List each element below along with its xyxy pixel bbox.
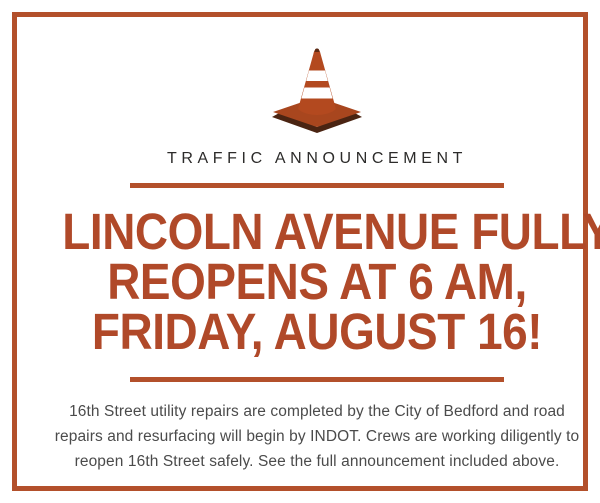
headline-line-2: REOPENS AT 6 AM, bbox=[62, 257, 571, 307]
traffic-cone-graphic bbox=[262, 43, 372, 139]
poster-border-frame: TRAFFIC ANNOUNCEMENT LINCOLN AVENUE FULL… bbox=[12, 12, 588, 491]
cone-stripe-upper bbox=[306, 71, 328, 82]
cone-tip bbox=[314, 49, 319, 52]
headline-line-3: FRIDAY, AUGUST 16! bbox=[62, 307, 571, 357]
traffic-announcement-poster: TRAFFIC ANNOUNCEMENT LINCOLN AVENUE FULL… bbox=[0, 0, 600, 503]
headline-line-1: LINCOLN AVENUE FULLY bbox=[62, 207, 571, 257]
poster-headline: LINCOLN AVENUE FULLY REOPENS AT 6 AM, FR… bbox=[62, 207, 571, 357]
poster-content: TRAFFIC ANNOUNCEMENT LINCOLN AVENUE FULL… bbox=[34, 34, 600, 503]
poster-body-text: 16th Street utility repairs are complete… bbox=[54, 399, 581, 474]
traffic-cone-icon bbox=[262, 43, 372, 139]
cone-body bbox=[298, 49, 336, 115]
cone-stripe-lower bbox=[301, 88, 332, 99]
poster-kicker: TRAFFIC ANNOUNCEMENT bbox=[167, 150, 467, 168]
divider-top bbox=[130, 183, 504, 188]
divider-bottom bbox=[130, 377, 504, 382]
